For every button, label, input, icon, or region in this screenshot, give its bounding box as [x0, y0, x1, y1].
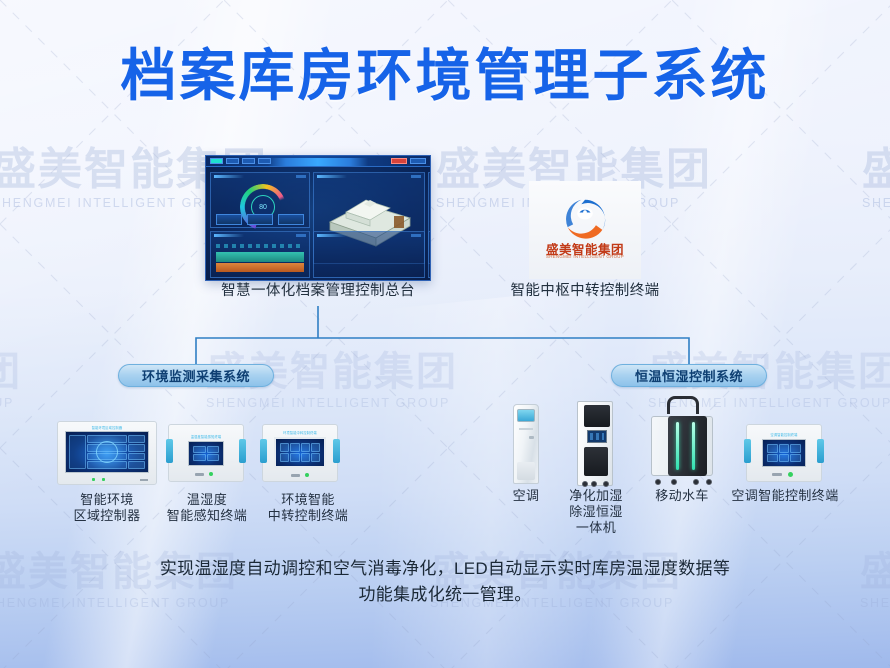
uv-lamp: [676, 422, 679, 470]
side-accent: [333, 439, 340, 463]
device-label-th-sensor: 温湿度 智能感知终端: [155, 492, 259, 524]
side-accent: [744, 439, 751, 463]
caster-wheel: [655, 479, 661, 485]
purifier-body-panel: [584, 447, 608, 476]
status-led: [788, 472, 793, 477]
device-screen-title: 空调智能控制终端: [747, 432, 821, 437]
footer-description: 实现温湿度自动调控和空气消毒净化，LED自动显示实时库房温湿度数据等 功能集成化…: [60, 556, 830, 609]
caster-wheel: [603, 481, 609, 487]
group-pill-climate[interactable]: 恒温恒湿控制系统: [611, 364, 767, 387]
device-label-ac-control-terminal: 空调智能控制终端: [726, 488, 844, 504]
device-purifier-humidifier[interactable]: [577, 401, 613, 486]
footer-line-1: 实现温湿度自动调控和空气消毒净化，LED自动显示实时库房温湿度数据等: [60, 556, 830, 582]
device-button[interactable]: [772, 473, 782, 476]
hub-device-image[interactable]: 盛美智能集团 SHENGMEI INTELLIGENT GROUP: [529, 181, 641, 279]
header-button[interactable]: [226, 158, 239, 164]
status-led: [102, 478, 105, 481]
logo-text-en: SHENGMEI INTELLIGENT GROUP: [529, 254, 641, 259]
device-relay-terminal[interactable]: 环境智能中转控制终端: [262, 424, 338, 482]
header-alarm-chip[interactable]: [391, 158, 407, 164]
watermark: 盛美智能集团 SHENGMEI INTELLIGENT GROUP: [0, 352, 22, 410]
header-button[interactable]: [242, 158, 255, 164]
status-led: [305, 473, 309, 477]
group-pill-monitoring[interactable]: 环境监测采集系统: [118, 364, 274, 387]
ac-display: [529, 436, 534, 439]
caster-wheel: [706, 479, 712, 485]
device-button[interactable]: [195, 473, 204, 476]
cart-dark-panel: [668, 416, 707, 476]
side-accent: [166, 439, 173, 463]
watermark-cn: 盛美智能集团: [0, 352, 22, 392]
dashboard-mini-button[interactable]: [278, 214, 304, 225]
device-screen-title: 温湿度智能感知终端: [169, 434, 243, 439]
device-air-conditioner[interactable]: [513, 404, 539, 484]
page-title: 档案库房环境管理子系统: [0, 48, 890, 104]
ac-base: [517, 462, 535, 480]
device-label-mobile-water-cart: 移动水车: [644, 488, 720, 504]
device-label-purifier-humidifier: 净化加湿 除湿恒湿 一体机: [559, 488, 633, 536]
cart-handle[interactable]: [667, 396, 699, 414]
side-accent: [817, 439, 824, 463]
purifier-top-module: [584, 405, 610, 427]
trend-ticks: [216, 244, 304, 248]
caster-wheel: [591, 481, 597, 487]
dashboard-screenshot[interactable]: 80: [205, 155, 431, 281]
ac-seam: [519, 428, 533, 430]
header-status-chip[interactable]: [410, 158, 426, 164]
purifier-display[interactable]: [587, 430, 607, 443]
device-label-air-conditioner: 空调: [496, 488, 556, 504]
device-label-relay-terminal: 环境智能 中转控制终端: [252, 492, 364, 524]
device-th-sensor[interactable]: 温湿度智能感知终端: [168, 424, 244, 482]
device-screen-title: 智能环境区域控制器: [58, 425, 156, 430]
dashboard-panel-controls: [428, 231, 431, 278]
device-screen-title: 环境智能中转控制终端: [263, 430, 337, 435]
status-led: [92, 478, 95, 481]
caption-hub: 智能中枢中转控制终端: [462, 283, 708, 301]
trend-band-orange: [216, 263, 304, 272]
side-accent: [260, 439, 267, 463]
device-area-controller[interactable]: 智能环境区域控制器: [57, 421, 157, 485]
uv-lamp: [692, 422, 695, 470]
caster-wheel: [671, 479, 677, 485]
watermark-cn: 盛美智能集团: [860, 552, 890, 592]
watermark: 盛美智能集团 SHENGMEI INTELLIGENT GROUP: [860, 552, 890, 610]
caster-wheel: [693, 479, 699, 485]
watermark-en: SHENGMEI INTELLIGENT GROUP: [206, 397, 458, 410]
dashboard-mini-button[interactable]: [216, 214, 242, 225]
device-ac-control-terminal[interactable]: 空调智能控制终端: [746, 424, 822, 482]
footer-line-2: 功能集成化统一管理。: [60, 582, 830, 608]
watermark-en: SHENGMEI INTELLIGENT GROUP: [860, 597, 890, 610]
watermark-en: SHENGMEI INTELLIGENT GROUP: [0, 397, 22, 410]
device-mobile-water-cart[interactable]: [651, 396, 713, 484]
company-logo-icon: [562, 197, 608, 239]
slide-canvas: 盛美智能集团 SHENGMEI INTELLIGENT GROUP 盛美智能集团…: [0, 0, 890, 668]
caster-wheel: [582, 481, 588, 487]
header-button[interactable]: [210, 158, 223, 164]
device-badge: [140, 479, 148, 481]
device-label-area-controller: 智能环境 区域控制器: [40, 492, 174, 524]
ac-vent: [517, 409, 535, 422]
watermark: 盛美智能集团 SHENGMEI INTELLIGENT GROUP: [862, 148, 890, 210]
device-button[interactable]: [291, 474, 300, 477]
dashboard-panel-video: [313, 231, 425, 278]
status-led: [209, 472, 213, 476]
dashboard-title-bar: [268, 158, 368, 166]
header-right-group: [391, 158, 426, 164]
watermark-en: SHENGMEI INTELLIGENT GROUP: [862, 197, 890, 210]
trend-band-teal: [216, 252, 304, 262]
dashboard-mini-button[interactable]: [247, 214, 273, 225]
side-accent: [239, 439, 246, 463]
watermark-cn: 盛美智能集团: [862, 148, 890, 192]
caption-console: 智慧一体化档案管理控制总台: [145, 283, 491, 301]
